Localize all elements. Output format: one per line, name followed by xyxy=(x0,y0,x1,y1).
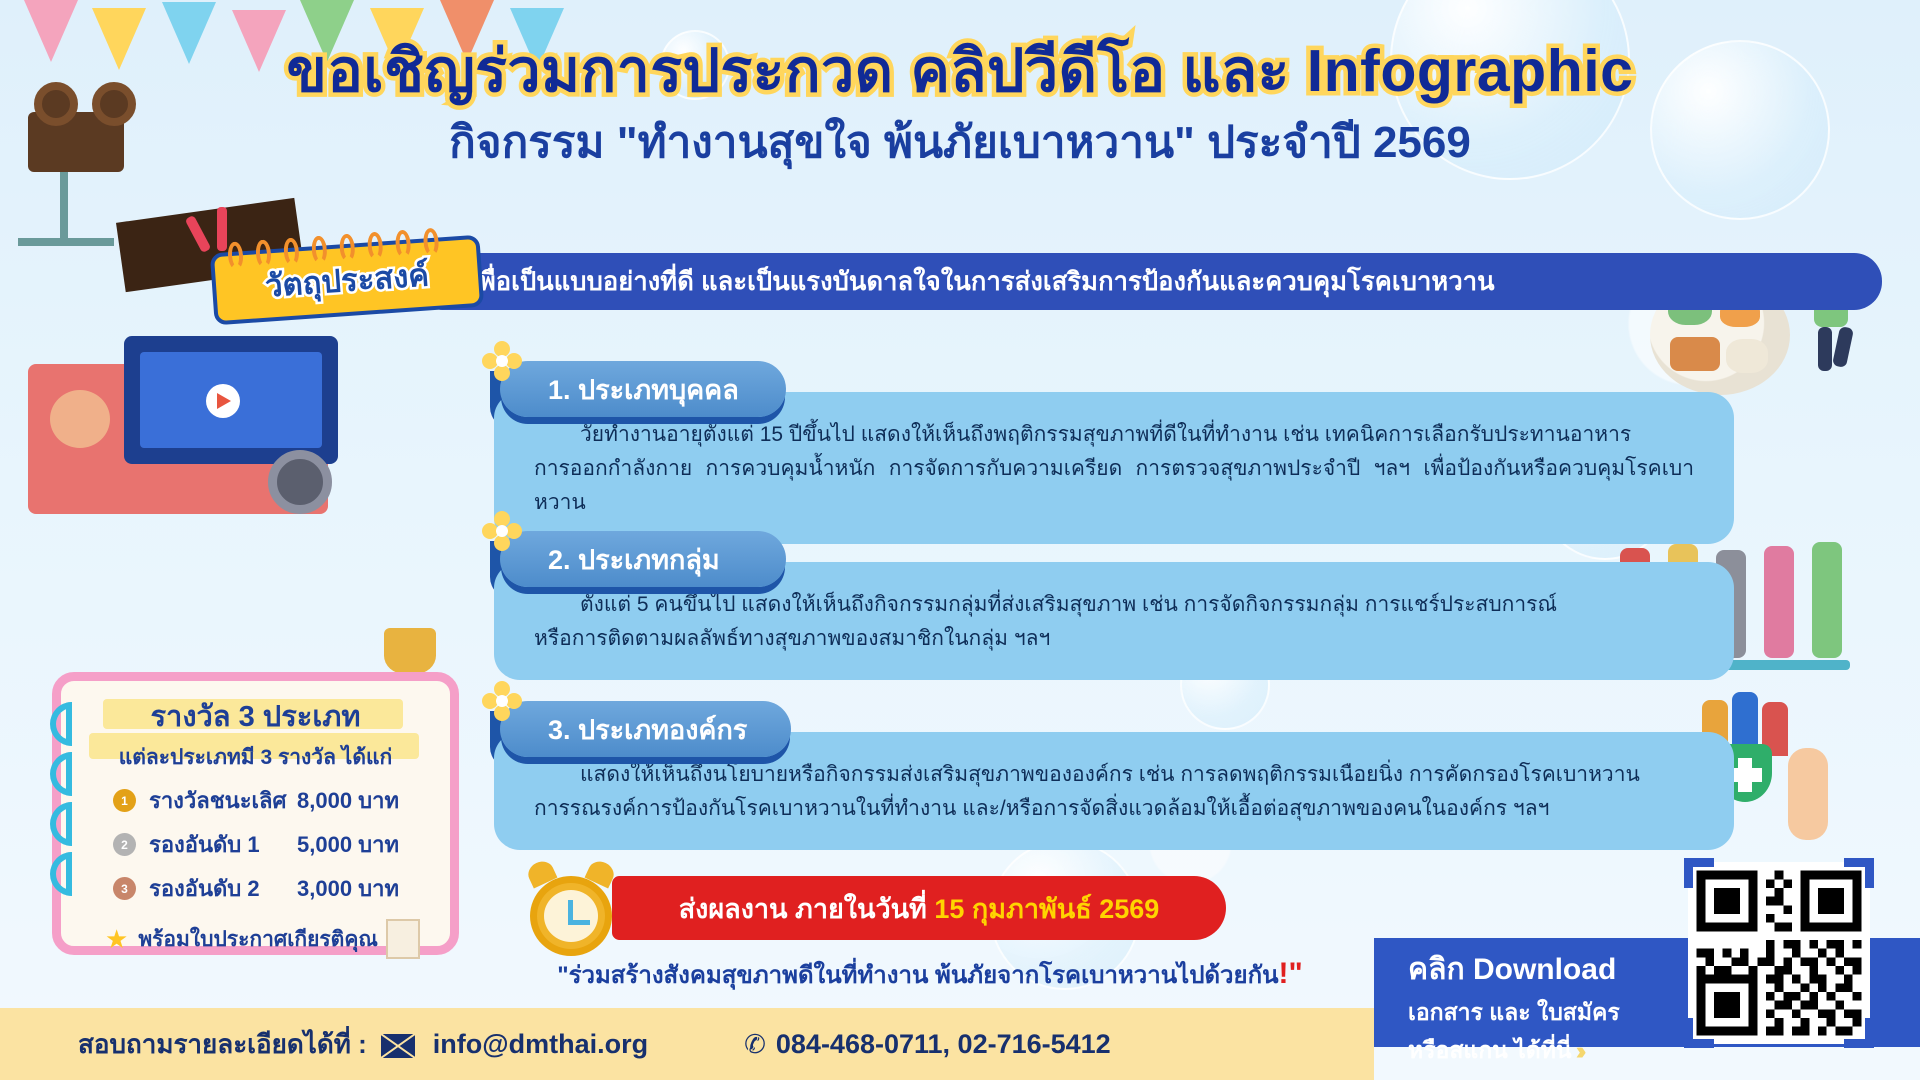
prize-row: 1 รางวัลชนะเลิศ 8,000 บาท xyxy=(113,783,450,818)
category-heading-1: 1. ประเภทบุคคล xyxy=(500,361,786,417)
chevron-right-icon: ››› xyxy=(1576,1037,1580,1066)
category-block-3: 3. ประเภทองค์กร แสดงให้เห็นถึงนโยบายหรือ… xyxy=(494,732,1734,850)
email-icon xyxy=(381,1034,415,1058)
prize-amount: 5,000 บาท xyxy=(297,827,399,862)
download-line-3-label: หรือสแกน ได้ที่นี่ xyxy=(1408,1033,1572,1069)
category-body-line: ตั้งแต่ 5 คนขึ้นไป แสดงให้เห็นถึงกิจกรรม… xyxy=(534,588,1694,622)
contact-phone[interactable]: 084-468-0711, 02-716-5412 xyxy=(776,1029,1111,1060)
slogan: "ร่วมสร้างสังคมสุขภาพดีในที่ทำงาน พ้นภัย… xyxy=(480,955,1380,994)
footer-bar: สอบถามรายละเอียดได้ที่ : info@dmthai.org… xyxy=(0,1008,1374,1080)
category-heading-3: 3. ประเภทองค์กร xyxy=(500,701,791,757)
page-title: ขอเชิญร่วมการประกวด คลิปวีดีโอ และ Infog… xyxy=(287,38,1634,104)
category-heading-label: 1. ประเภทบุคคล xyxy=(548,368,739,411)
qr-frame-corner xyxy=(1684,858,1714,888)
prize-card-subtitle: แต่ละประเภทมี 3 รางวัล ได้แก่ xyxy=(61,741,450,774)
slogan-mark: !" xyxy=(1279,957,1303,990)
deadline-banner: ส่งผลงาน ภายในวันที่ 15 กุมภาพันธ์ 2569 xyxy=(612,876,1226,940)
prize-name: รองอันดับ 2 xyxy=(149,871,297,906)
video-editing-illustration xyxy=(28,300,368,530)
category-heading-label: 3. ประเภทองค์กร xyxy=(548,708,747,751)
prize-note: ★ พร้อมใบประกาศเกียรติคุณ xyxy=(105,919,450,959)
category-body-line: แสดงให้เห็นถึงนโยบายหรือกิจกรรมส่งเสริมส… xyxy=(534,758,1694,792)
certificate-icon xyxy=(386,919,420,959)
objective-text: เพื่อเป็นแบบอย่างที่ดี และเป็นแรงบันดาลใ… xyxy=(470,262,1495,302)
poster-header: ขอเชิญร่วมการประกวด คลิปวีดีโอ และ Infog… xyxy=(0,38,1920,169)
poster-canvas: ขอเชิญร่วมการประกวด คลิปวีดีโอ และ Infog… xyxy=(0,0,1920,1080)
prize-row: 3 รองอันดับ 2 3,000 บาท xyxy=(113,871,450,906)
slogan-text: "ร่วมสร้างสังคมสุขภาพดีในที่ทำงาน พ้นภัย… xyxy=(557,962,1278,989)
page-subtitle: กิจกรรม "ทำงานสุขใจ พ้นภัยเบาหวาน" ประจำ… xyxy=(0,118,1920,169)
silver-medal-icon: 2 xyxy=(113,833,136,856)
flower-icon xyxy=(482,511,522,551)
qr-frame-corner xyxy=(1844,858,1874,888)
category-body-line: การออกกำลังกาย การควบคุมน้ำหนัก การจัดกา… xyxy=(534,452,1694,520)
prize-card: รางวัล 3 ประเภท แต่ละประเภทมี 3 รางวัล ไ… xyxy=(52,672,459,955)
flower-icon xyxy=(482,681,522,721)
category-body-line: วัยทำงานอายุตั้งแต่ 15 ปีขึ้นไป แสดงให้เ… xyxy=(534,418,1694,452)
gold-medal-icon: 1 xyxy=(113,789,136,812)
phone-icon: ✆ xyxy=(744,1029,766,1060)
prize-name: รองอันดับ 1 xyxy=(149,827,297,862)
bronze-medal-icon: 3 xyxy=(113,877,136,900)
deadline-prefix: ส่งผลงาน ภายในวันที่ xyxy=(679,894,935,924)
contact-email[interactable]: info@dmthai.org xyxy=(433,1029,648,1060)
flower-icon xyxy=(482,341,522,381)
category-heading-2: 2. ประเภทกลุ่ม xyxy=(500,531,786,587)
qr-frame-corner xyxy=(1684,1018,1714,1048)
star-icon: ★ xyxy=(105,924,128,955)
category-body-line: การรณรงค์การป้องกันโรคเบาหวานในที่ทำงาน … xyxy=(534,792,1694,826)
qr-code-image xyxy=(1688,862,1870,1044)
prize-amount: 8,000 บาท xyxy=(297,783,399,818)
contact-label: สอบถามรายละเอียดได้ที่ : xyxy=(78,1024,367,1065)
category-block-1: 1. ประเภทบุคคล วัยทำงานอายุตั้งแต่ 15 ปี… xyxy=(494,392,1734,544)
prize-amount: 3,000 บาท xyxy=(297,871,399,906)
category-body-line: หรือการติดตามผลลัพธ์ทางสุขภาพของสมาชิกใน… xyxy=(534,622,1694,656)
category-heading-label: 2. ประเภทกลุ่ม xyxy=(548,538,720,581)
deadline-date: 15 กุมภาพันธ์ 2569 xyxy=(934,894,1159,924)
prize-row: 2 รองอันดับ 1 5,000 บาท xyxy=(113,827,450,862)
deadline-text: ส่งผลงาน ภายในวันที่ 15 กุมภาพันธ์ 2569 xyxy=(679,887,1160,930)
objective-banner: เพื่อเป็นแบบอย่างที่ดี และเป็นแรงบันดาลใ… xyxy=(432,253,1882,310)
prize-card-title: รางวัล 3 ประเภท xyxy=(61,693,450,739)
alarm-clock-icon xyxy=(524,862,622,958)
prize-name: รางวัลชนะเลิศ xyxy=(149,783,297,818)
category-block-2: 2. ประเภทกลุ่ม ตั้งแต่ 5 คนขึ้นไป แสดงให… xyxy=(494,562,1734,680)
qr-frame-corner xyxy=(1844,1018,1874,1048)
prize-note-label: พร้อมใบประกาศเกียรติคุณ xyxy=(138,923,378,956)
qr-code[interactable] xyxy=(1688,862,1870,1044)
